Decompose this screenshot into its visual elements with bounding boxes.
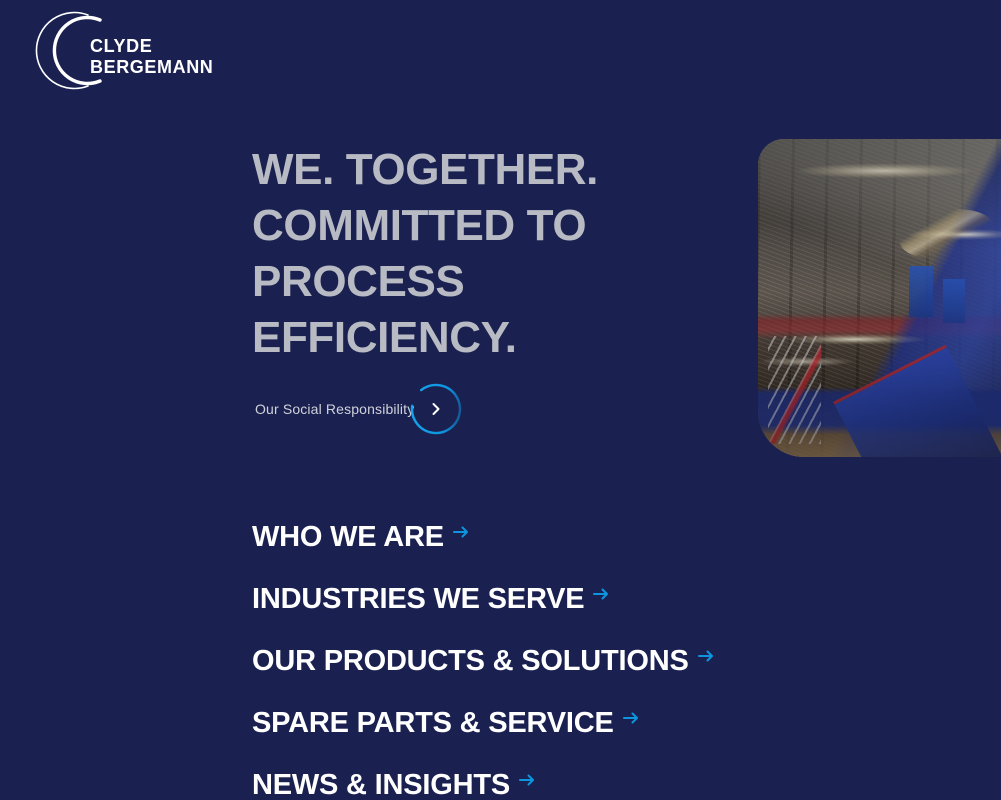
nav-link-industries-we-serve[interactable]: INDUSTRIES WE SERVE <box>252 584 952 646</box>
chevron-right-icon <box>429 402 443 416</box>
arrow-right-icon <box>518 765 536 783</box>
nav-link-label: WHO WE ARE <box>252 522 444 552</box>
arrow-right-icon <box>592 579 610 597</box>
arrow-right-icon <box>452 517 470 535</box>
arrow-right-icon <box>697 641 715 659</box>
cta-circle-button[interactable] <box>410 383 462 435</box>
nav-link-label: SPARE PARTS & SERVICE <box>252 708 614 738</box>
homepage-hero: CLYDE BERGEMANN WE. TOGETHER. COMMITTED … <box>0 0 1001 800</box>
site-logo[interactable]: CLYDE BERGEMANN <box>33 8 248 93</box>
headline-line-2: COMMITTED TO <box>252 198 722 254</box>
nav-link-label: OUR PRODUCTS & SOLUTIONS <box>252 646 689 676</box>
cta-label: Our Social Responsibility <box>255 401 428 417</box>
nav-link-our-products-and-solutions[interactable]: OUR PRODUCTS & SOLUTIONS <box>252 646 952 708</box>
logo-line-1: CLYDE <box>90 36 213 57</box>
nav-link-label: INDUSTRIES WE SERVE <box>252 584 584 614</box>
primary-section-links: WHO WE ARE INDUSTRIES WE SERVE OUR PRODU… <box>252 522 952 800</box>
nav-link-who-we-are[interactable]: WHO WE ARE <box>252 522 952 584</box>
social-responsibility-cta[interactable]: Our Social Responsibility <box>255 383 462 435</box>
nav-link-spare-parts-and-service[interactable]: SPARE PARTS & SERVICE <box>252 708 952 770</box>
hero-photo-shading <box>758 139 1001 457</box>
headline-line-3: PROCESS <box>252 254 722 310</box>
headline-line-1: WE. TOGETHER. <box>252 142 722 198</box>
headline-line-4: EFFICIENCY. <box>252 310 722 366</box>
hero-headline: WE. TOGETHER. COMMITTED TO PROCESS EFFIC… <box>252 142 722 366</box>
logo-line-2: BERGEMANN <box>90 57 213 78</box>
nav-link-label: NEWS & INSIGHTS <box>252 770 510 800</box>
nav-link-news-and-insights[interactable]: NEWS & INSIGHTS <box>252 770 952 800</box>
logo-wordmark: CLYDE BERGEMANN <box>90 36 213 78</box>
arrow-right-icon <box>622 703 640 721</box>
hero-image <box>758 139 1001 457</box>
